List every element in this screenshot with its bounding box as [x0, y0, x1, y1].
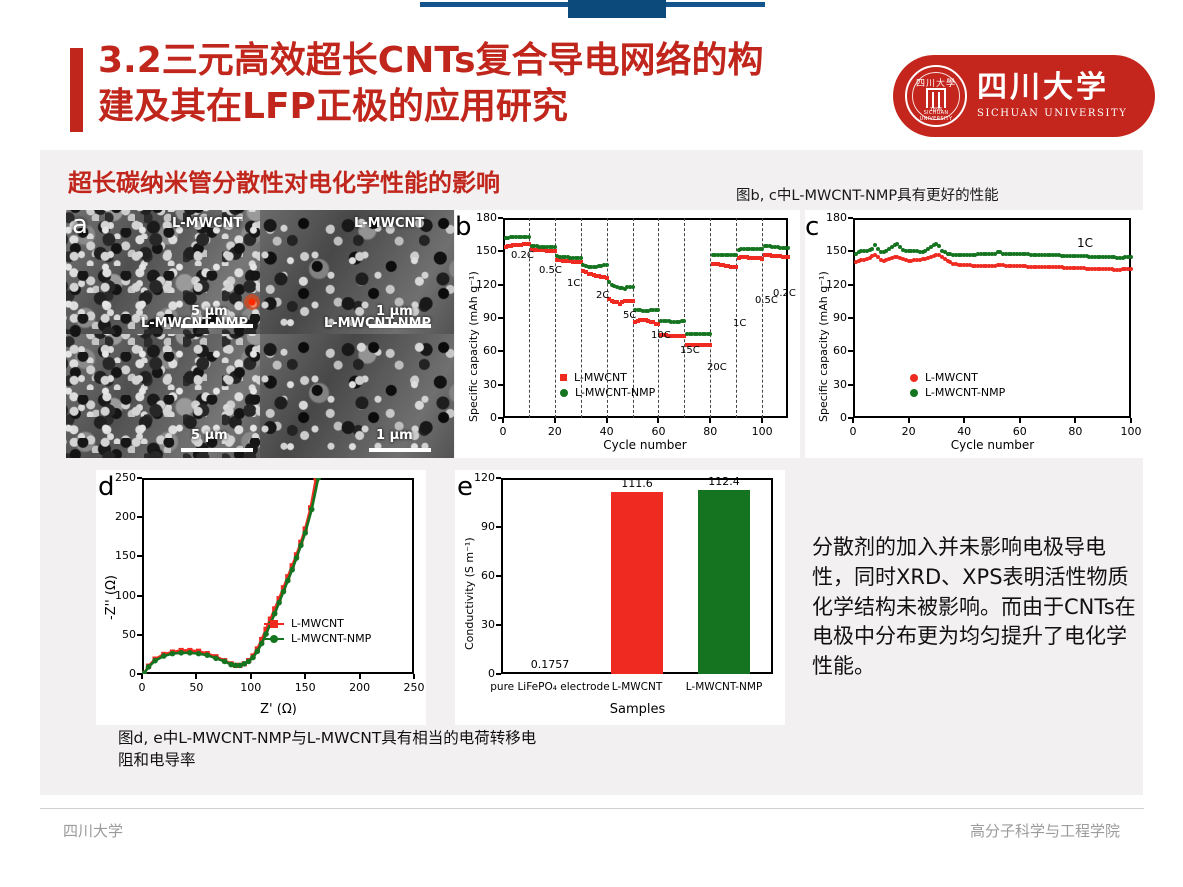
y-tick-label: 0 [102, 667, 136, 680]
x-tick-label: 0 [485, 425, 521, 438]
y-tick-label: 0 [463, 411, 497, 424]
y-tick-label: 120 [463, 278, 497, 291]
data-point [579, 256, 583, 260]
sem-scalebar-label-2: 1 µm [376, 304, 413, 319]
x-tick-label: 100 [744, 425, 780, 438]
y-tick-label: 180 [813, 211, 847, 224]
footer-divider [40, 808, 1144, 809]
conclusion-text: 分散剂的加入并未影响电极导电性，同时XRD、XPS表明活性物质化学结构未被影响。… [812, 533, 1142, 682]
title-accent-bar [70, 48, 83, 132]
x-tick-mark [554, 418, 556, 423]
panel-c-legend-label-1: L-MWCNT-NMP [925, 386, 1005, 399]
data-point [527, 235, 531, 239]
footer-left-text: 四川大学 [63, 820, 123, 841]
panel-c-legend-item-0: L-MWCNT [910, 370, 1005, 385]
x-tick-label: 60 [1002, 425, 1038, 438]
legend-green-line-icon [264, 638, 284, 640]
university-name-cn: 四川大学 [977, 73, 1128, 103]
note-panels-b-c: 图b, c中L-MWCNT-NMP具有更好的性能 [736, 184, 999, 205]
bar-value-label-1: 111.6 [597, 477, 677, 490]
x-tick-mark [304, 674, 306, 679]
y-tick-label: 90 [461, 520, 495, 533]
data-point [708, 343, 712, 347]
panel-b-legend-item-1: L-MWCNT-NMP [560, 385, 655, 400]
legend-red-square-icon [560, 374, 567, 381]
x-tick-mark [908, 418, 910, 423]
data-point [605, 263, 609, 267]
x-tick-label: 0 [124, 681, 160, 694]
sem-label-top-right: L-MWCNT [354, 216, 424, 231]
panel-d-legend-label-1: L-MWCNT-NMP [291, 632, 371, 645]
x-tick-mark [1130, 418, 1132, 423]
y-tick-label: 150 [102, 549, 136, 562]
rate-label: 20C [707, 362, 727, 373]
data-point [553, 249, 557, 253]
legend-green-dot-icon-2 [910, 389, 918, 397]
x-tick-label: 40 [589, 425, 625, 438]
y-tick-mark [498, 250, 503, 252]
rate-label: 0.2C [773, 288, 796, 299]
y-tick-label: 120 [813, 278, 847, 291]
y-tick-mark [848, 250, 853, 252]
panel-b-legend-label-0: L-MWCNT [574, 371, 627, 384]
panel-d-nyquist-chart: d -Z'' (Ω) Z' (Ω) 0501001502002500501001… [96, 470, 426, 725]
data-point [605, 276, 609, 280]
rate-label: 1C [567, 278, 580, 289]
x-tick-label: 20 [537, 425, 573, 438]
x-tick-mark [1019, 418, 1021, 423]
y-tick-mark [137, 477, 142, 479]
x-tick-mark [413, 674, 415, 679]
y-tick-mark [848, 284, 853, 286]
y-tick-mark [498, 317, 503, 319]
panel-d-legend: L-MWCNT L-MWCNT-NMP [264, 616, 371, 646]
y-tick-label: 0 [813, 411, 847, 424]
bar-2 [698, 490, 750, 674]
x-tick-label: 40 [946, 425, 982, 438]
data-point [1129, 267, 1133, 271]
rate-label: 0.5C [539, 265, 562, 276]
rate-label: 5C [623, 310, 636, 321]
panel-b-rate-capability-chart: b Specific capacity (mAh g⁻¹) Cycle numb… [455, 210, 800, 458]
panel-b-legend-item-0: L-MWCNT [560, 370, 655, 385]
x-tick-label: 100 [233, 681, 269, 694]
data-point [786, 255, 790, 259]
top-accent-bar-thick [568, 0, 666, 18]
sem-scalebar-1 [181, 324, 253, 328]
university-logo: 四川大學 1896 SICHUAN UNIVERSITY 四川大学 SICHUA… [893, 55, 1155, 137]
y-tick-label: 100 [102, 589, 136, 602]
data-point [631, 285, 635, 289]
seal-arc-text: SICHUAN UNIVERSITY [907, 110, 965, 122]
rate-divider [684, 218, 685, 418]
x-tick-label: 0 [835, 425, 871, 438]
y-tick-mark [496, 624, 501, 626]
y-tick-label: 150 [463, 244, 497, 257]
panel-d-x-axis-label: Z' (Ω) [141, 702, 416, 717]
y-tick-mark [498, 350, 503, 352]
y-tick-mark [498, 384, 503, 386]
y-tick-label: 90 [813, 311, 847, 324]
y-tick-label: 0 [461, 667, 495, 680]
sem-scalebar-label-4: 1 µm [376, 428, 413, 443]
sem-scalebar-2 [369, 324, 431, 328]
data-point [786, 246, 790, 250]
x-tick-mark [141, 674, 143, 679]
data-point [708, 332, 712, 336]
data-point [873, 243, 877, 247]
slide-title-block: 3.2三元高效超长CNTs复合导电网络的构 建及其在LFP正极的应用研究 [70, 44, 900, 139]
x-tick-label: 20 [891, 425, 927, 438]
y-tick-label: 30 [813, 378, 847, 391]
x-tick-label: 80 [1057, 425, 1093, 438]
y-tick-mark [496, 575, 501, 577]
x-tick-mark [761, 418, 763, 423]
data-point [1129, 255, 1133, 259]
x-tick-label: 200 [342, 681, 378, 694]
y-tick-label: 60 [461, 569, 495, 582]
data-point [553, 245, 557, 249]
university-name-en: SICHUAN UNIVERSITY [977, 109, 1128, 119]
sem-scalebar-label-3: 5 µm [191, 428, 228, 443]
y-tick-label: 150 [813, 244, 847, 257]
bar-value-label-2: 112.4 [684, 475, 764, 488]
y-tick-label: 120 [461, 471, 495, 484]
panel-c-legend-item-1: L-MWCNT-NMP [910, 385, 1005, 400]
x-tick-mark [250, 674, 252, 679]
panel-e-y-axis-label: Conductivity (S m⁻¹) [463, 537, 476, 650]
x-tick-label: 250 [396, 681, 432, 694]
panel-b-legend-label-1: L-MWCNT-NMP [575, 386, 655, 399]
y-tick-mark [498, 284, 503, 286]
y-tick-mark [137, 555, 142, 557]
sem-quadrant-bottom-right [260, 334, 454, 458]
rate-divider [710, 218, 711, 418]
x-tick-mark [657, 418, 659, 423]
panel-d-legend-item-0: L-MWCNT [264, 616, 371, 631]
x-tick-mark [502, 418, 504, 423]
panel-c-legend-label-0: L-MWCNT [925, 371, 978, 384]
panel-b-x-axis-label: Cycle number [500, 438, 790, 452]
y-tick-mark [137, 634, 142, 636]
y-tick-mark [496, 673, 501, 675]
panel-c-cycling-chart: c Specific capacity (mAh g⁻¹) Cycle numb… [805, 210, 1145, 458]
y-tick-mark [848, 317, 853, 319]
y-tick-label: 60 [463, 344, 497, 357]
x-tick-mark [606, 418, 608, 423]
x-tick-label: 60 [640, 425, 676, 438]
sem-scalebar-4 [369, 448, 431, 452]
y-tick-mark [848, 384, 853, 386]
y-tick-label: 60 [813, 344, 847, 357]
x-tick-mark [1074, 418, 1076, 423]
bar-value-label-0: 0.1757 [510, 658, 590, 671]
sem-quadrant-bottom-left [66, 334, 260, 458]
y-tick-label: 200 [102, 510, 136, 523]
rate-label: 10C [651, 330, 671, 341]
x-tick-label: 50 [178, 681, 214, 694]
y-tick-mark [137, 595, 142, 597]
y-tick-label: 50 [102, 628, 136, 641]
data-point [734, 265, 738, 269]
legend-red-line-icon [264, 623, 284, 625]
university-wordmark: 四川大学 SICHUAN UNIVERSITY [977, 73, 1128, 119]
data-point [937, 244, 941, 248]
y-tick-mark [496, 526, 501, 528]
page-title: 3.2三元高效超长CNTs复合导电网络的构 建及其在LFP正极的应用研究 [98, 38, 898, 130]
legend-red-dot-icon [910, 374, 918, 382]
y-tick-label: 90 [463, 311, 497, 324]
panel-b-legend: L-MWCNT L-MWCNT-NMP [560, 370, 655, 400]
y-tick-label: 180 [463, 211, 497, 224]
x-tick-label: 150 [287, 681, 323, 694]
legend-green-dot-icon [560, 389, 568, 397]
y-tick-label: 30 [463, 378, 497, 391]
caption-panels-d-e: 图d, e中L-MWCNT-NMP与L-MWCNT具有相当的电荷转移电阻和电导率 [118, 727, 538, 772]
x-tick-mark [709, 418, 711, 423]
panel-a-sem-image: a L-MWCNT L-MWCNT L-MWCNT-NMP L-MWCNT-NM… [66, 210, 454, 458]
panel-d-legend-item-1: L-MWCNT-NMP [264, 631, 371, 646]
y-tick-label: 30 [461, 618, 495, 631]
seal-top-text: 四川大學 [907, 76, 965, 89]
panel-d-legend-label-0: L-MWCNT [291, 617, 344, 630]
x-tick-label: 100 [1113, 425, 1149, 438]
x-tick-mark [852, 418, 854, 423]
x-tick-label: 80 [692, 425, 728, 438]
category-label-2: L-MWCNT-NMP [662, 681, 786, 693]
page-title-line-1: 3.2三元高效超长CNTs复合导电网络的构 [98, 38, 898, 84]
panel-c-x-axis-label: Cycle number [850, 438, 1135, 452]
footer-right-text: 高分子科学与工程学院 [970, 820, 1120, 841]
rate-label: 15C [680, 345, 700, 356]
seal-gate-icon [926, 88, 946, 108]
sem-beam-spot-marker [244, 294, 260, 310]
panel-e-conductivity-chart: e Conductivity (S m⁻¹) Samples 030609012… [455, 470, 785, 725]
section-heading: 超长碳纳米管分散性对电化学性能的影响 [68, 163, 500, 198]
data-point [760, 257, 764, 261]
y-tick-label: 250 [102, 471, 136, 484]
page-title-line-2: 建及其在LFP正极的应用研究 [98, 84, 898, 130]
y-tick-mark [848, 350, 853, 352]
rate-label: 0.2C [511, 250, 534, 261]
y-tick-mark [498, 217, 503, 219]
panel-c-legend: L-MWCNT L-MWCNT-NMP [910, 370, 1005, 400]
data-point [631, 299, 635, 303]
x-tick-mark [359, 674, 361, 679]
panel-e-x-axis-label: Samples [500, 702, 775, 717]
sem-scalebar-3 [181, 448, 253, 452]
university-seal-icon: 四川大學 1896 SICHUAN UNIVERSITY [905, 65, 967, 127]
y-tick-mark [496, 477, 501, 479]
rate-divider [658, 218, 659, 418]
bar-1 [611, 492, 663, 674]
panel-a-letter: a [72, 210, 88, 240]
data-point [734, 253, 738, 257]
sem-scalebar-label-1: 5 µm [191, 304, 228, 319]
y-tick-mark [137, 516, 142, 518]
rate-label: 2C [596, 290, 609, 301]
panel-c-rate-annotation: 1C [1077, 236, 1093, 250]
y-tick-mark [848, 217, 853, 219]
x-tick-mark [195, 674, 197, 679]
top-accent-bar [0, 0, 1183, 18]
sem-label-top-left: L-MWCNT [172, 216, 242, 231]
rate-label: 1C [733, 318, 746, 329]
x-tick-mark [963, 418, 965, 423]
